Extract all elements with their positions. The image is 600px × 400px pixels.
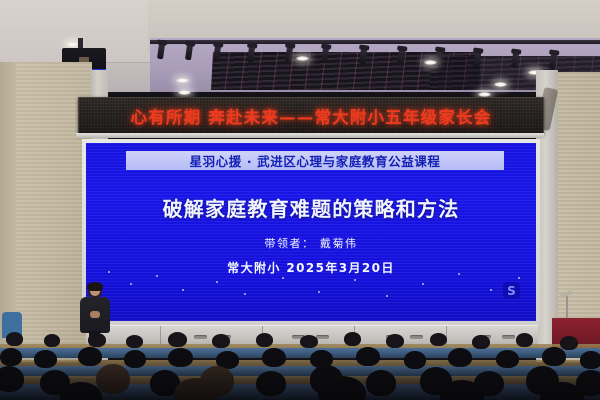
star-dot: [182, 289, 184, 291]
audience-head: [496, 350, 519, 368]
recessed-downlight-icon: [296, 56, 309, 61]
audience-head: [262, 348, 286, 367]
audience-head: [256, 371, 286, 396]
star-dot: [130, 283, 132, 285]
slide-title: 破解家庭教育难题的策略和方法: [86, 193, 536, 222]
audience-head: [0, 348, 22, 366]
audience-head: [580, 351, 600, 369]
audience-head: [168, 332, 187, 347]
star-dot: [518, 277, 520, 279]
led-banner: 心有所期 奔赴未来——常大附小五年级家长会: [78, 97, 544, 135]
star-dot: [490, 289, 492, 291]
star-dot: [422, 283, 424, 285]
star-dot: [458, 273, 460, 275]
led-banner-text: 心有所期 奔赴未来——常大附小五年级家长会: [131, 104, 492, 128]
audience-head: [78, 347, 102, 366]
audience-head: [88, 333, 106, 347]
audience-head: [560, 336, 578, 350]
recessed-downlight-icon: [424, 60, 437, 65]
slide-subtitle-text: 星羽心援 · 武进区心理与家庭教育公益课程: [189, 151, 440, 170]
star-dot: [282, 277, 284, 279]
slide-subtitle-bar: 星羽心援 · 武进区心理与家庭教育公益课程: [126, 151, 504, 170]
star-dot: [156, 275, 158, 277]
audience-head: [96, 364, 130, 394]
audience-head: [356, 347, 380, 366]
audience-head: [404, 351, 426, 369]
audience-head: [300, 335, 318, 348]
audience-head: [344, 332, 361, 346]
audience-head: [256, 333, 273, 347]
slide-footer-line: 常大附小 2025年3月20日: [86, 259, 536, 276]
presenter-hair: [87, 282, 103, 291]
audience-head: [212, 334, 230, 348]
slide-presenter-line: 带领者： 戴菊伟: [86, 235, 536, 251]
audience-head: [44, 334, 60, 347]
star-dot: [216, 281, 218, 283]
audience-head: [124, 350, 146, 368]
star-dot: [108, 271, 110, 273]
audience-head: [366, 370, 396, 396]
recessed-downlight-icon: [178, 90, 191, 95]
audience-head: [0, 366, 24, 392]
audience-head: [448, 348, 472, 367]
audience-head: [168, 348, 193, 367]
audience-area: [0, 330, 600, 400]
audience-head: [34, 350, 57, 368]
projection-screen: 星羽心援 · 武进区心理与家庭教育公益课程 破解家庭教育难题的策略和方法 带领者…: [86, 143, 536, 321]
audience-head: [516, 333, 533, 347]
auditorium-photo: 心有所期 奔赴未来——常大附小五年级家长会 星羽心援 · 武进区心理与家庭教育公…: [0, 0, 600, 400]
audience-head: [6, 332, 23, 346]
presenter-hands: [90, 311, 100, 318]
projection-screen-frame: 星羽心援 · 武进区心理与家庭教育公益课程 破解家庭教育难题的策略和方法 带领者…: [82, 139, 540, 325]
audience-head: [386, 334, 404, 348]
star-dot: [354, 279, 356, 281]
star-dot: [386, 295, 388, 297]
audience-head: [472, 335, 490, 349]
audience-head: [542, 347, 566, 366]
banner-frame-bottom: [76, 133, 544, 138]
recessed-downlight-icon: [176, 78, 189, 83]
slide-watermark-icon: S: [503, 282, 520, 299]
star-dot: [318, 291, 320, 293]
audience-head: [430, 333, 447, 346]
audience-head: [126, 335, 143, 348]
recessed-downlight-icon: [494, 82, 507, 87]
star-dot: [244, 293, 246, 295]
